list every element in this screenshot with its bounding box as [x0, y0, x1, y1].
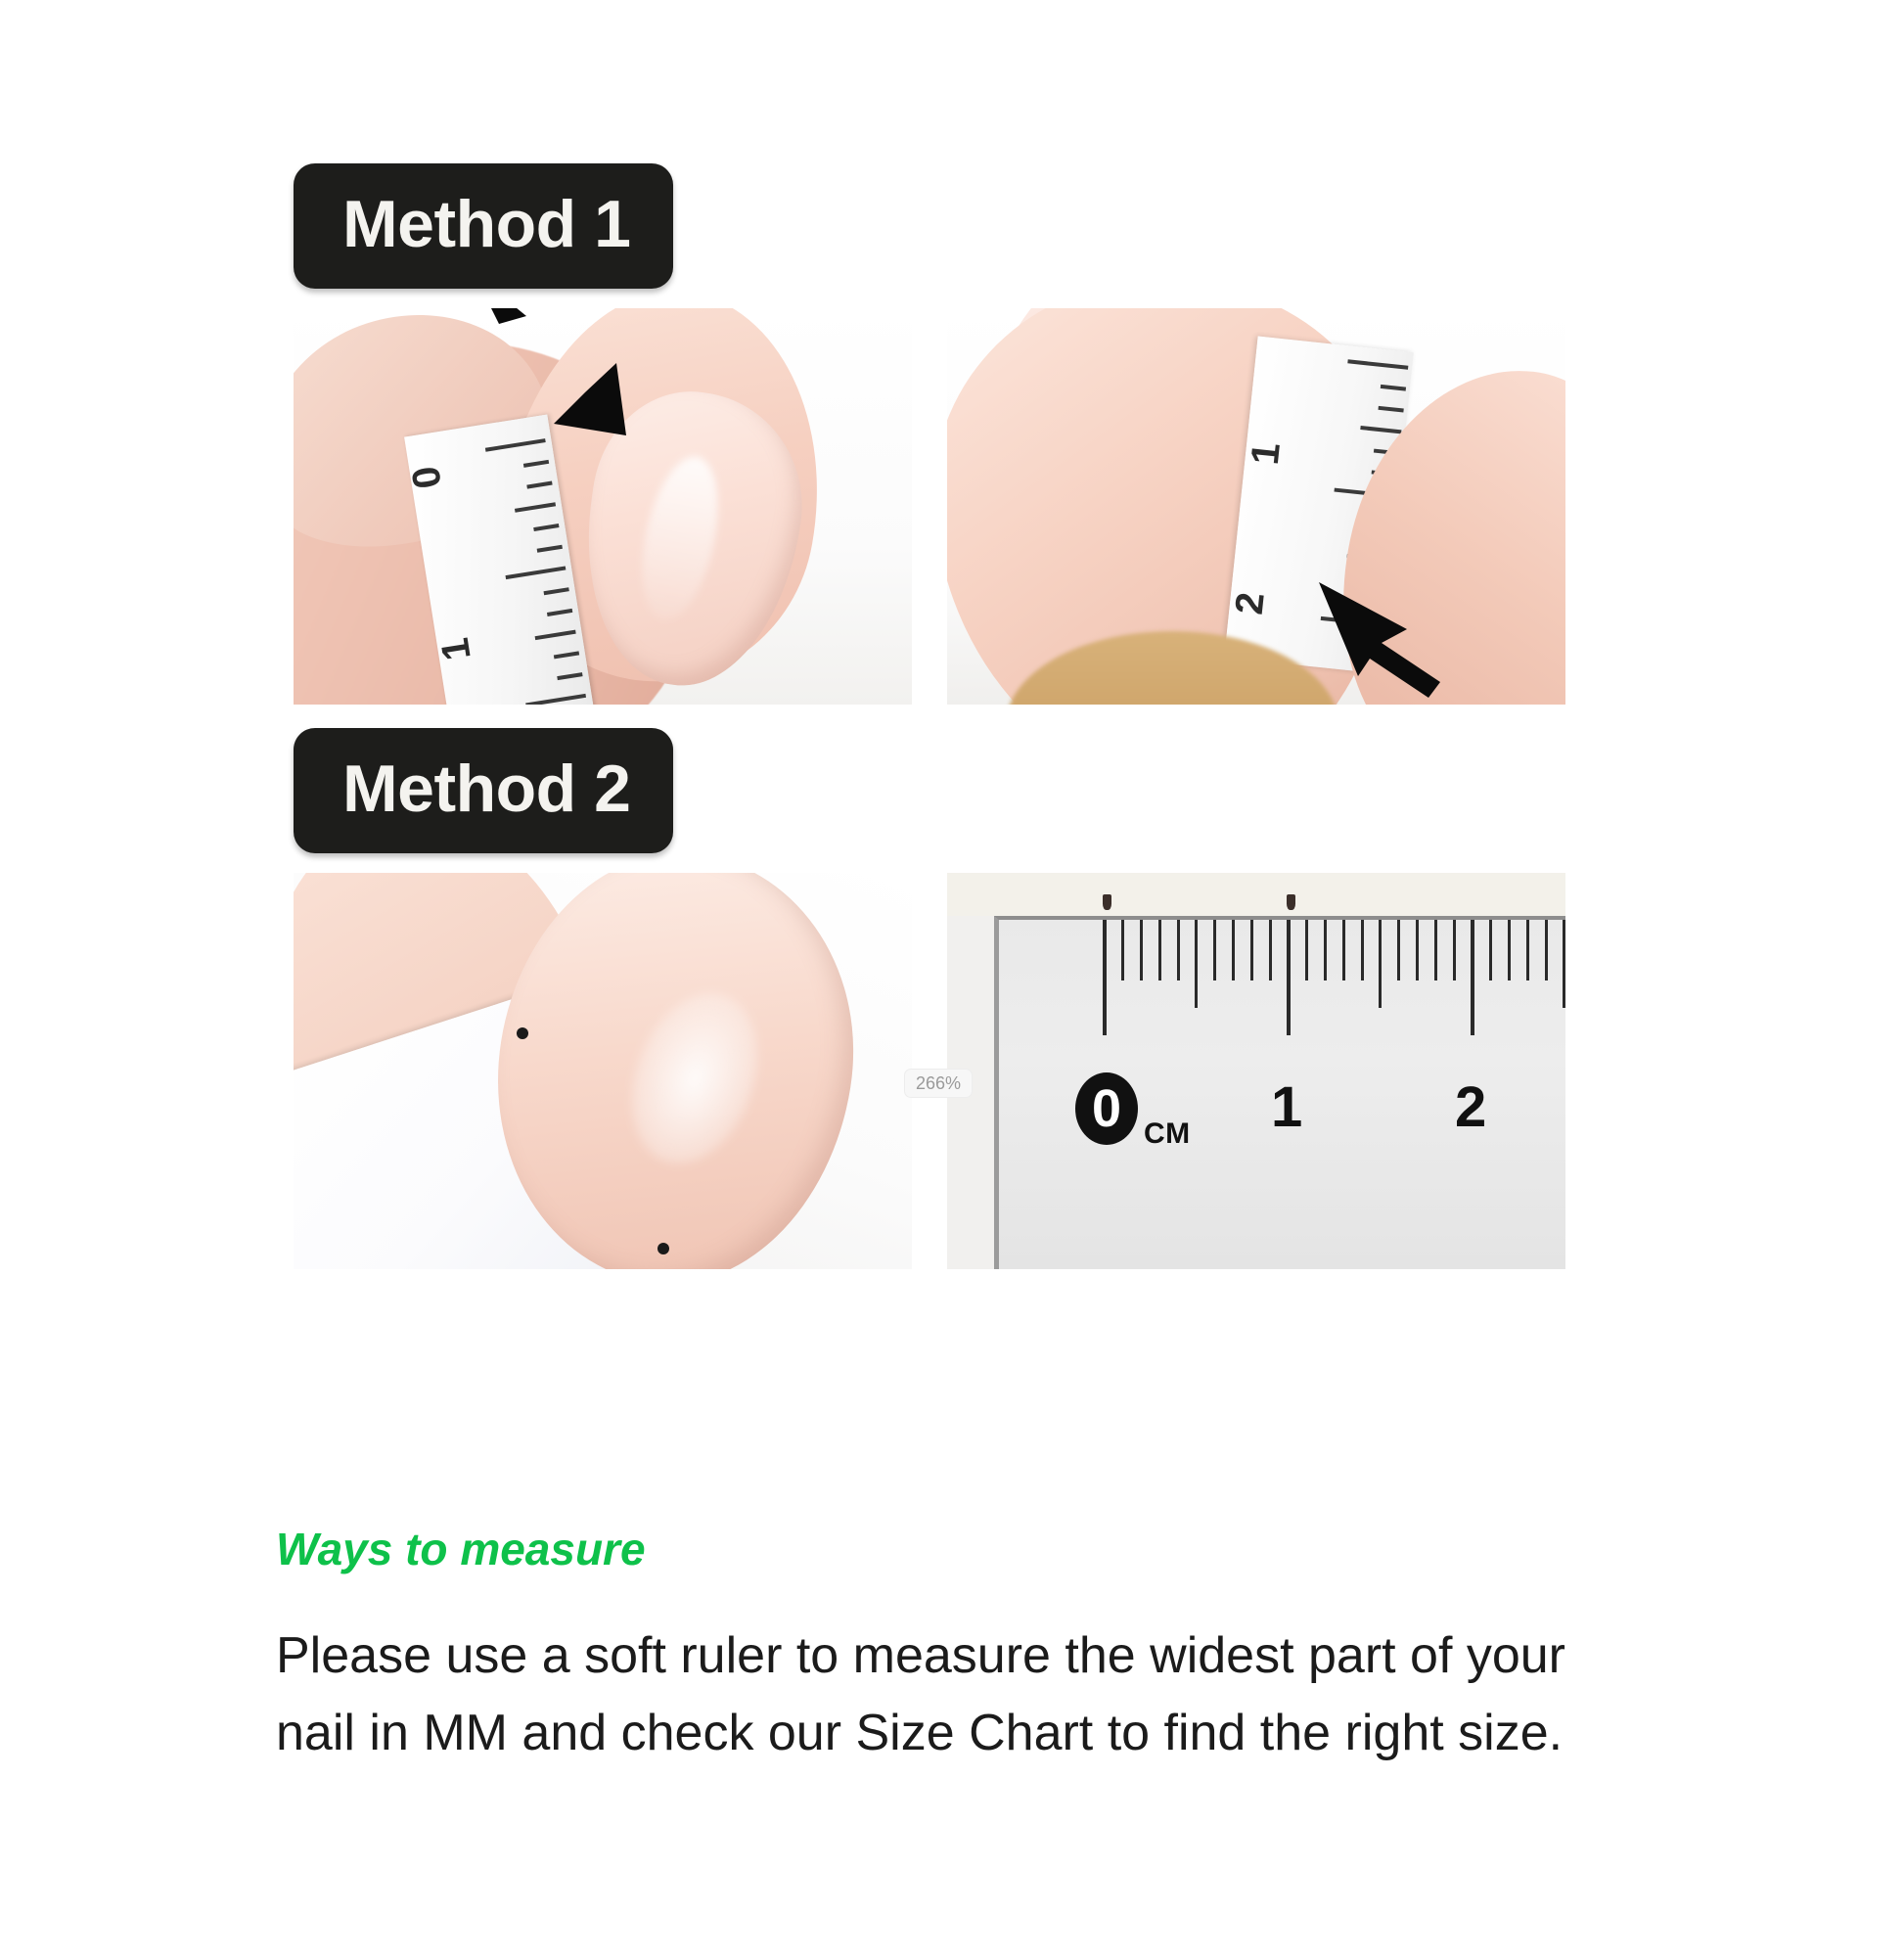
- method-1-badge-label: Method 1: [342, 187, 630, 261]
- ruler-tick-major: [1471, 920, 1474, 1035]
- ruler-pin-left: [1103, 894, 1111, 910]
- ruler-tick-minor: [1213, 920, 1216, 980]
- ruler-tick-minor: [1177, 920, 1180, 980]
- plastic-ruler: 0 CM 1 2 3: [994, 916, 1565, 1269]
- ruler-tick-minor: [1361, 920, 1364, 980]
- ruler-tick-half: [1379, 920, 1382, 1008]
- zoom-level-badge[interactable]: 266%: [904, 1069, 973, 1098]
- ruler-tick-minor: [1453, 920, 1456, 980]
- ruler-tick-minor: [1416, 920, 1419, 980]
- ruler-tick-half: [1563, 920, 1565, 1008]
- instructions-section: Ways to measure Please use a soft ruler …: [276, 1525, 1646, 1772]
- ruler-tick-minor: [1342, 920, 1345, 980]
- ruler-tick-minor: [1489, 920, 1492, 980]
- pen-mark-bottom: [657, 1243, 669, 1254]
- method-2-badge: Method 2: [294, 728, 673, 853]
- ruler-tick-half: [1195, 920, 1198, 1008]
- ruler-tick-minor: [1397, 920, 1400, 980]
- arrow-down-right-icon: [470, 308, 665, 445]
- ruler-tick-major: [1287, 920, 1291, 1035]
- ruler-tick-minor: [1158, 920, 1161, 980]
- ruler-tick-minor: [1545, 920, 1548, 980]
- method-2-badge-label: Method 2: [342, 752, 630, 826]
- ruler-pin-right: [1287, 894, 1295, 910]
- tape-number-0: 0: [404, 463, 451, 491]
- method-1-badge: Method 1: [294, 163, 673, 289]
- pen-mark-top: [517, 1027, 528, 1039]
- method-1-row: Method 1: [294, 308, 1565, 705]
- tape-number-2: 2: [1228, 590, 1274, 616]
- ruler-tick-minor: [1121, 920, 1124, 980]
- instructions-body: Please use a soft ruler to measure the w…: [276, 1618, 1636, 1772]
- ruler-unit-label: CM: [1144, 1117, 1191, 1151]
- method-2-photo-left[interactable]: [294, 873, 912, 1269]
- ruler-tick-minor: [1526, 920, 1529, 980]
- method-1-photo-right[interactable]: 1 2: [947, 308, 1565, 705]
- page-root: Method 1: [0, 0, 1904, 1960]
- ruler-tick-minor: [1232, 920, 1235, 980]
- photo-top-strip: [947, 873, 1565, 916]
- ruler-tick-minor: [1324, 920, 1327, 980]
- method-2-photo-right[interactable]: 0 CM 1 2 3: [947, 873, 1565, 1269]
- tape-number-1: 1: [1244, 440, 1290, 467]
- ruler-tick-minor: [1250, 920, 1253, 980]
- ruler-tick-minor: [1140, 920, 1143, 980]
- method-1-photo-left[interactable]: 0 1: [294, 308, 912, 705]
- ruler-label-2: 2: [1455, 1074, 1486, 1140]
- instructions-heading: Ways to measure: [276, 1525, 1646, 1574]
- ruler-tick-minor: [1508, 920, 1511, 980]
- measurement-photo-grid: Method 1: [294, 308, 1565, 1269]
- arrow-up-left-icon: [1313, 561, 1499, 705]
- ruler-label-1: 1: [1271, 1074, 1302, 1140]
- tape-number-1: 1: [433, 635, 480, 663]
- ruler-label-0: 0: [1075, 1072, 1138, 1145]
- ruler-tick-minor: [1305, 920, 1308, 980]
- ruler-tick-minor: [1269, 920, 1272, 980]
- ruler-tick-major: [1103, 920, 1107, 1035]
- ruler-tick-minor: [1434, 920, 1437, 980]
